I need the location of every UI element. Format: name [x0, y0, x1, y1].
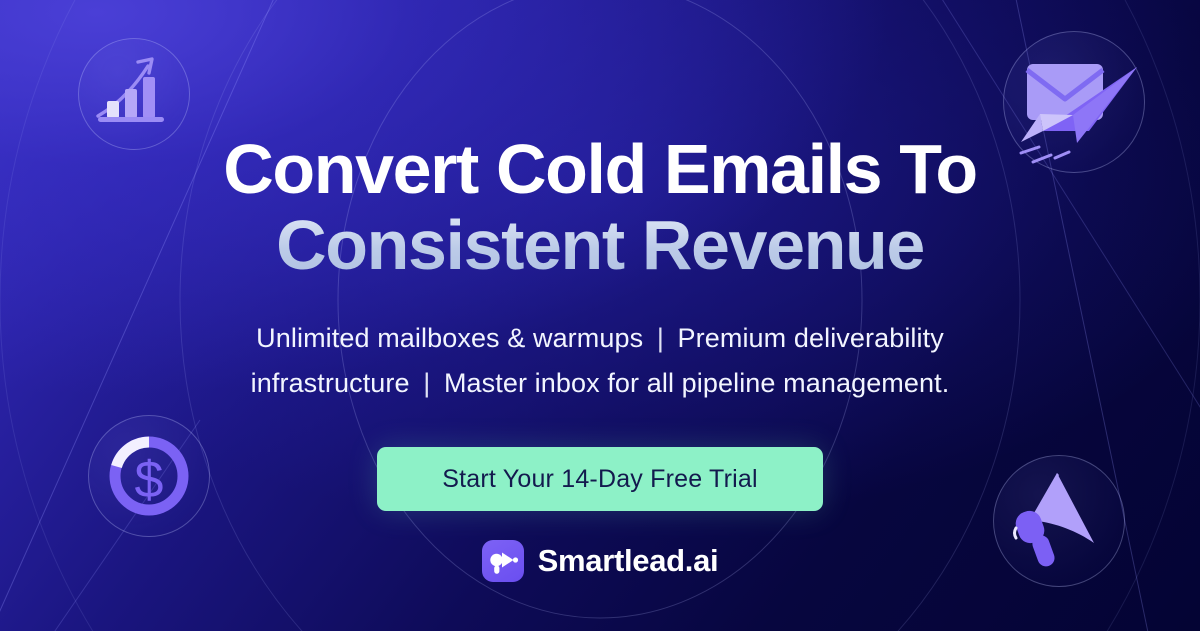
- subtitle-separator-1: |: [651, 323, 670, 353]
- smartlead-logo-megaphone-icon: [482, 540, 524, 582]
- promo-banner: $ Convert Cold Emails To Consistent Reve…: [0, 0, 1200, 631]
- subtitle-part-3: Master inbox for all pipeline management…: [444, 368, 949, 398]
- headline-line-2: Consistent Revenue: [0, 207, 1200, 283]
- headline-line-1: Convert Cold Emails To: [0, 131, 1200, 207]
- start-free-trial-button[interactable]: Start Your 14-Day Free Trial: [377, 447, 823, 511]
- brand-name: Smartlead.ai: [538, 543, 719, 579]
- subtitle-part-1: Unlimited mailboxes & warmups: [256, 323, 643, 353]
- subtitle: Unlimited mailboxes & warmups | Premium …: [185, 316, 1015, 406]
- page-title: Convert Cold Emails To Consistent Revenu…: [0, 0, 1200, 283]
- subtitle-separator-2: |: [417, 368, 436, 398]
- banner-content: Convert Cold Emails To Consistent Revenu…: [0, 0, 1200, 631]
- brand-lockup: Smartlead.ai: [482, 540, 719, 582]
